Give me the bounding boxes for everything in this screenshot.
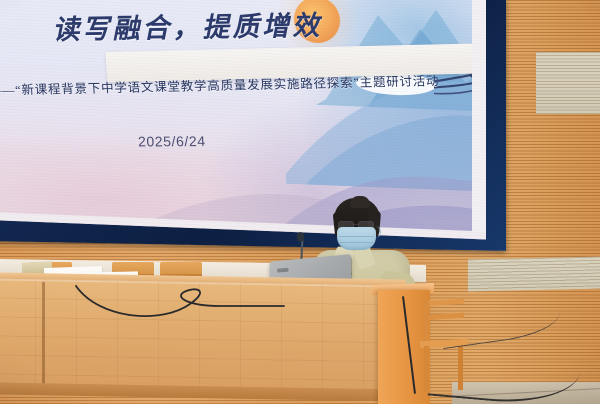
wall-acoustic-panel-upper [536,52,600,114]
laptop-logo [277,268,288,273]
projection-screen-frame: 读写融合，提质增效 ——“新课程背景下中学语文课堂教学高质量发展实施路径探索”主… [0,0,506,251]
photo-scene: 读写融合，提质增效 ——“新课程背景下中学语文课堂教学高质量发展实施路径探索”主… [0,0,600,404]
slide-date: 2025/6/24 [138,133,206,149]
microphone-head [297,232,304,242]
slide-title: 读写融合，提质增效 [51,4,323,48]
desk-cable-loop [70,284,290,324]
podium-panel-seam [42,282,45,392]
mask-ear-loop [372,226,381,238]
mask-fold-1 [339,236,374,237]
slide-right-margin [472,0,486,240]
wall-acoustic-panel-lower [468,257,600,292]
hair-bun [350,196,370,208]
mask-fold-2 [340,242,373,243]
face-mask [337,227,376,250]
